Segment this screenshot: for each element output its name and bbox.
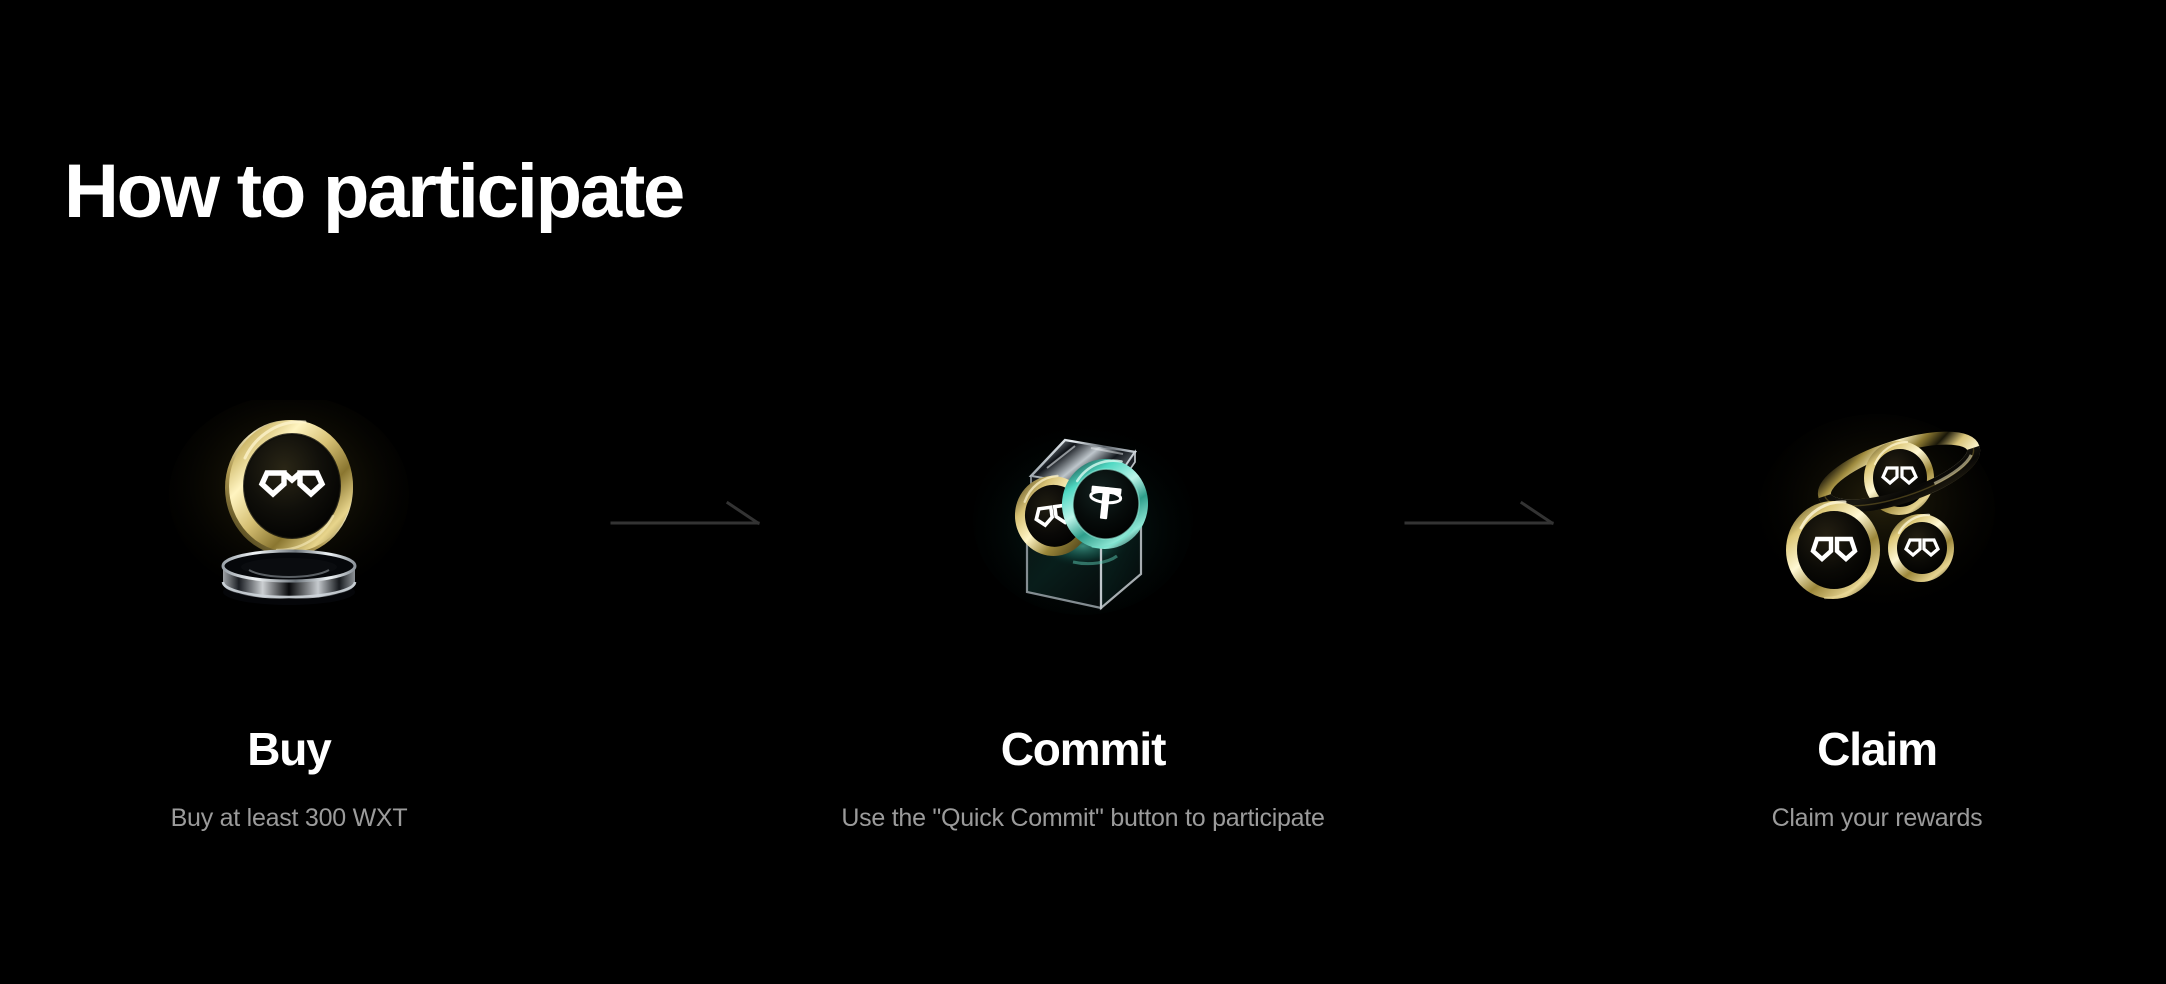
arrow-right-icon xyxy=(578,400,794,630)
arrow-right-icon xyxy=(1372,400,1588,630)
page-title: How to participate xyxy=(64,152,683,232)
step-label: Commit xyxy=(1001,726,1166,772)
step-commit: Commit Use the "Quick Commit" button to … xyxy=(794,400,1372,831)
step-description: Claim your rewards xyxy=(1772,806,1983,831)
gold-coins-with-saturn-ring-icon xyxy=(1727,400,2027,630)
step-description: Use the "Quick Commit" button to partici… xyxy=(841,806,1324,831)
step-label: Claim xyxy=(1817,726,1937,772)
glass-chest-with-wxt-and-usdt-coins-icon xyxy=(933,400,1233,630)
steps-row: Buy Buy at least 300 WXT xyxy=(0,400,2166,900)
step-buy: Buy Buy at least 300 WXT xyxy=(0,400,578,831)
step-label: Buy xyxy=(247,726,331,772)
gold-wxt-coin-on-glass-pedestal-icon xyxy=(139,400,439,630)
how-to-participate-section: How to participate xyxy=(0,0,2166,984)
step-claim: Claim Claim your rewards xyxy=(1588,400,2166,831)
step-description: Buy at least 300 WXT xyxy=(171,806,408,831)
